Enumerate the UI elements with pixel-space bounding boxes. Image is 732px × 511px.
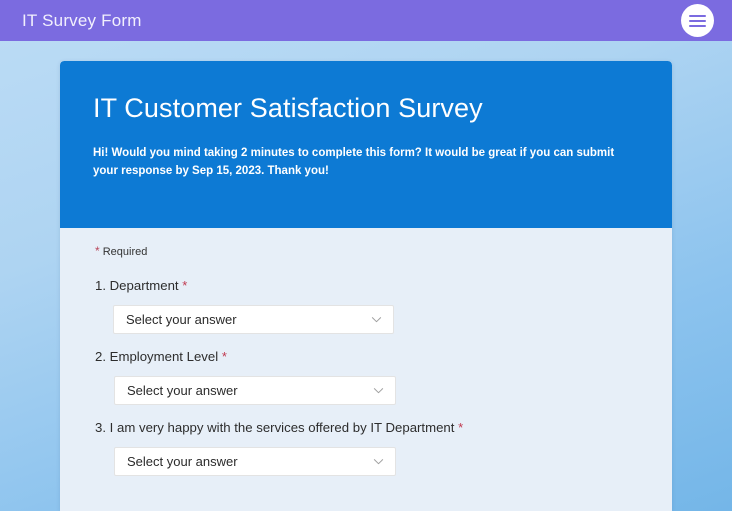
question-2-required-asterisk: * bbox=[222, 349, 227, 364]
question-2-select-value: Select your answer bbox=[127, 383, 238, 398]
question-2-select[interactable]: Select your answer bbox=[114, 376, 396, 405]
question-2-text: 2. Employment Level bbox=[95, 349, 218, 364]
required-asterisk: * bbox=[95, 244, 100, 258]
question-1-text: 1. Department bbox=[95, 278, 179, 293]
survey-form-card: IT Customer Satisfaction Survey Hi! Woul… bbox=[60, 61, 672, 511]
question-1-select-value: Select your answer bbox=[126, 312, 237, 327]
chevron-down-icon bbox=[373, 385, 384, 396]
survey-description: Hi! Would you mind taking 2 minutes to c… bbox=[93, 145, 639, 181]
chevron-down-icon bbox=[373, 456, 384, 467]
question-2-label: 2. Employment Level * bbox=[93, 348, 639, 366]
question-3-label: 3. I am very happy with the services off… bbox=[93, 419, 639, 437]
question-3-text: 3. I am very happy with the services off… bbox=[95, 420, 454, 435]
app-title: IT Survey Form bbox=[22, 11, 142, 31]
survey-header: IT Customer Satisfaction Survey Hi! Woul… bbox=[60, 61, 672, 228]
question-3-select-value: Select your answer bbox=[127, 454, 238, 469]
hamburger-line-2 bbox=[689, 20, 706, 22]
required-note: * Required bbox=[93, 244, 639, 258]
survey-body: * Required 1. Department * Select your a… bbox=[60, 228, 672, 511]
question-3-required-asterisk: * bbox=[458, 420, 463, 435]
question-3-select[interactable]: Select your answer bbox=[114, 447, 396, 476]
app-bar: IT Survey Form bbox=[0, 0, 732, 41]
hamburger-menu-icon[interactable] bbox=[681, 4, 714, 37]
question-1: 1. Department * Select your answer bbox=[93, 277, 639, 334]
question-3: 3. I am very happy with the services off… bbox=[93, 419, 639, 476]
required-label: Required bbox=[103, 246, 148, 258]
question-2: 2. Employment Level * Select your answer bbox=[93, 348, 639, 405]
question-1-required-asterisk: * bbox=[182, 278, 187, 293]
question-1-label: 1. Department * bbox=[93, 277, 639, 295]
chevron-down-icon bbox=[371, 314, 382, 325]
question-1-select[interactable]: Select your answer bbox=[113, 305, 394, 334]
hamburger-line-3 bbox=[689, 25, 706, 27]
hamburger-line-1 bbox=[689, 15, 706, 17]
survey-title: IT Customer Satisfaction Survey bbox=[93, 93, 639, 124]
